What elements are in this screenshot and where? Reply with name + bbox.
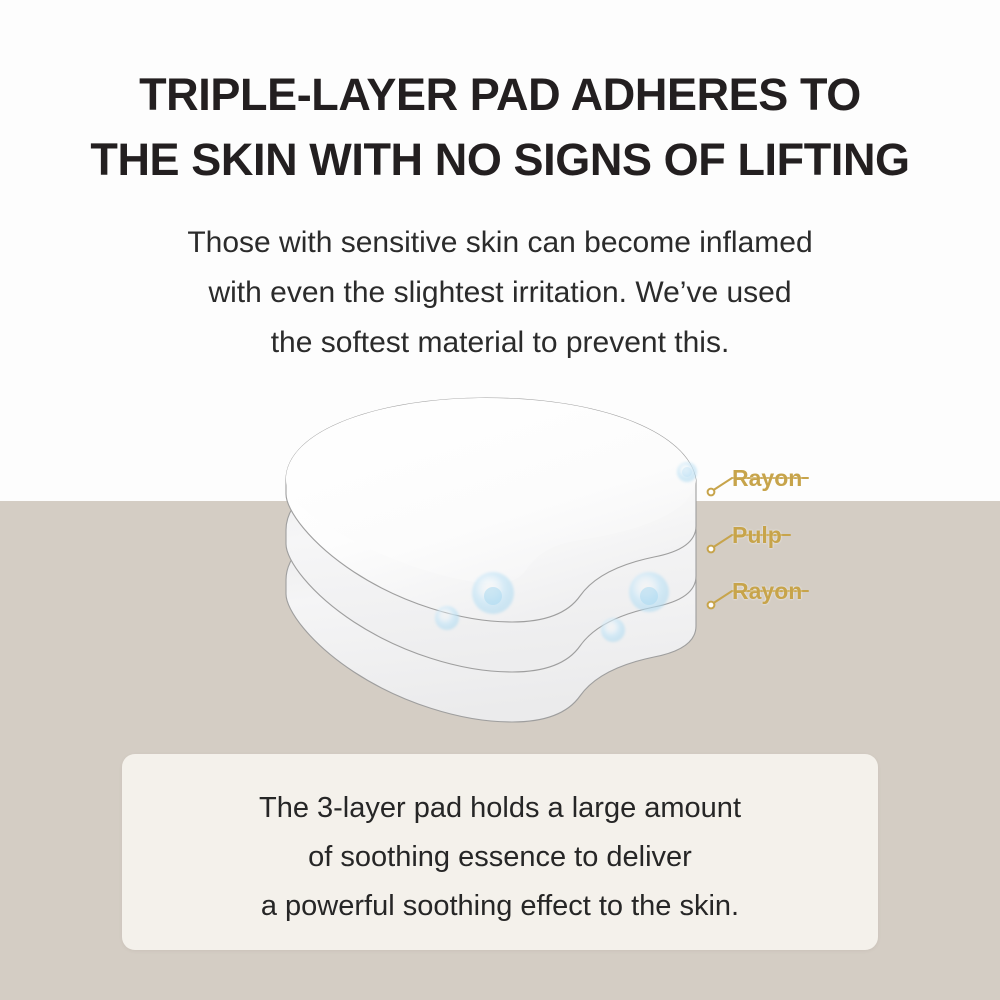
subcopy-line-3: the softest material to prevent this. (0, 318, 1000, 368)
headline-line-2: THE SKIN WITH NO SIGNS OF LIFTING (0, 127, 1000, 192)
page-subcopy: Those with sensitive skin can become inf… (0, 218, 1000, 368)
bottom-card-line-1: The 3-layer pad holds a large amount (122, 784, 878, 833)
promo-page: TRIPLE-LAYER PAD ADHERES TO THE SKIN WIT… (0, 0, 1000, 1000)
page-headline: TRIPLE-LAYER PAD ADHERES TO THE SKIN WIT… (0, 62, 1000, 192)
headline-line-1: TRIPLE-LAYER PAD ADHERES TO (0, 62, 1000, 127)
subcopy-line-1: Those with sensitive skin can become inf… (0, 218, 1000, 268)
leader-dot-3 (708, 602, 715, 609)
callout-group: Rayon Pulp Rayon (690, 445, 940, 655)
bubble-icon (435, 606, 459, 630)
bottom-card-line-3: a powerful soothing effect to the skin. (122, 882, 878, 931)
bottom-card-line-2: of soothing essence to deliver (122, 833, 878, 882)
bottom-info-card: The 3-layer pad holds a large amount of … (122, 754, 878, 950)
callout-label-pulp: Pulp (732, 522, 782, 549)
bubble-icon (484, 587, 502, 605)
callout-label-rayon-top: Rayon (732, 465, 802, 492)
leader-dot-2 (708, 546, 715, 553)
bubble-icon (601, 618, 625, 642)
callout-leader-lines (690, 445, 940, 655)
subcopy-line-2: with even the slightest irritation. We’v… (0, 268, 1000, 318)
callout-label-rayon-bottom: Rayon (732, 578, 802, 605)
bubble-icon (640, 587, 658, 605)
leader-dot-1 (708, 489, 715, 496)
bottom-card-text: The 3-layer pad holds a large amount of … (122, 784, 878, 931)
